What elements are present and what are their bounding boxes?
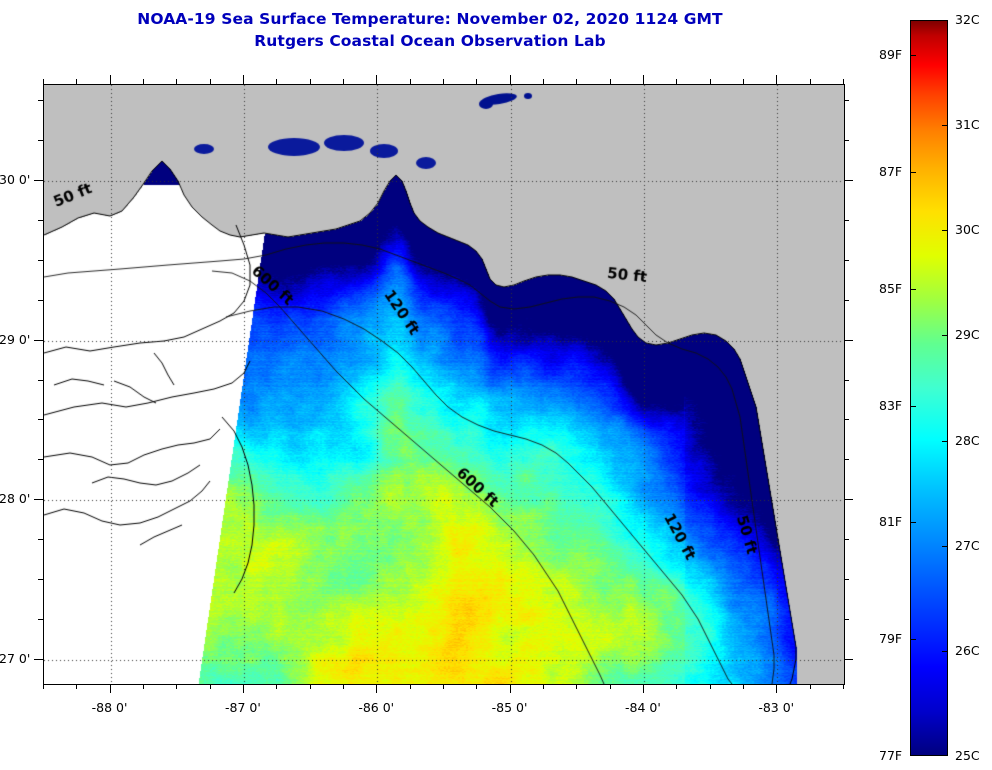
x-minor-tick: [276, 684, 277, 689]
y-minor-tick: [38, 539, 43, 540]
colorbar-tick: [942, 335, 948, 336]
y-major-tick: [34, 340, 43, 341]
x-minor-tick: [576, 684, 577, 689]
x-major-tick: [243, 684, 244, 693]
x-minor-tick-top: [710, 79, 711, 84]
x-major-tick: [376, 684, 377, 693]
colorbar-celsius-label: 25C: [955, 748, 980, 763]
sst-heatmap-canvas: [44, 85, 844, 684]
colorbar-fahrenheit-label: 81F: [879, 514, 902, 529]
y-minor-tick: [38, 380, 43, 381]
y-axis-tick-label: 29 0': [0, 332, 30, 347]
y-major-tick: [34, 659, 43, 660]
y-minor-tick: [38, 220, 43, 221]
x-minor-tick-top: [310, 79, 311, 84]
y-major-tick-right: [844, 659, 853, 660]
x-minor-tick: [143, 684, 144, 689]
x-axis-tick-label: -86 0': [358, 700, 394, 715]
x-minor-tick: [410, 684, 411, 689]
x-axis-tick-label: -88 0': [92, 700, 128, 715]
y-major-tick-right: [844, 499, 853, 500]
x-major-tick-top: [110, 75, 111, 84]
x-minor-tick-top: [810, 79, 811, 84]
colorbar-tick: [942, 651, 948, 652]
x-major-tick-top: [243, 75, 244, 84]
colorbar: [910, 20, 948, 756]
y-axis-tick-label: 27 0': [0, 651, 30, 666]
x-minor-tick-top: [210, 79, 211, 84]
y-minor-tick: [38, 100, 43, 101]
colorbar-fahrenheit-label: 79F: [879, 631, 902, 646]
y-minor-tick-right: [844, 579, 849, 580]
x-minor-tick: [810, 684, 811, 689]
y-major-tick: [34, 499, 43, 500]
colorbar-tick: [942, 125, 948, 126]
x-major-tick-top: [510, 75, 511, 84]
y-axis-tick-label: 30 0': [0, 172, 30, 187]
x-major-tick: [776, 684, 777, 693]
y-minor-tick: [38, 300, 43, 301]
x-minor-tick-top: [343, 79, 344, 84]
y-minor-tick-right: [844, 539, 849, 540]
y-minor-tick-right: [844, 619, 849, 620]
x-minor-tick-top: [610, 79, 611, 84]
x-minor-tick-top: [176, 79, 177, 84]
colorbar-celsius-label: 31C: [955, 117, 980, 132]
colorbar-celsius-label: 29C: [955, 327, 980, 342]
y-minor-tick: [38, 619, 43, 620]
x-minor-tick: [610, 684, 611, 689]
y-minor-tick: [38, 140, 43, 141]
y-major-tick-right: [844, 340, 853, 341]
x-axis-tick-label: -85 0': [492, 700, 528, 715]
x-major-tick: [643, 684, 644, 693]
x-minor-tick-top: [143, 79, 144, 84]
x-minor-tick-top: [76, 79, 77, 84]
colorbar-tick: [910, 172, 916, 173]
colorbar-tick: [942, 546, 948, 547]
x-minor-tick: [543, 684, 544, 689]
x-minor-tick-top: [743, 79, 744, 84]
x-minor-tick: [443, 684, 444, 689]
colorbar-fahrenheit-label: 85F: [879, 281, 902, 296]
x-minor-tick: [676, 684, 677, 689]
colorbar-celsius-label: 32C: [955, 12, 980, 27]
x-minor-tick-top: [543, 79, 544, 84]
x-major-tick: [510, 684, 511, 693]
y-minor-tick-right: [844, 419, 849, 420]
y-minor-tick: [38, 459, 43, 460]
title-line-1: NOAA-19 Sea Surface Temperature: Novembe…: [0, 8, 860, 30]
x-minor-tick: [310, 684, 311, 689]
y-minor-tick-right: [844, 260, 849, 261]
y-minor-tick-right: [844, 220, 849, 221]
colorbar-tick: [910, 522, 916, 523]
colorbar-fahrenheit-label: 83F: [879, 398, 902, 413]
colorbar-celsius-label: 30C: [955, 222, 980, 237]
page-title: NOAA-19 Sea Surface Temperature: Novembe…: [0, 8, 860, 52]
x-axis-tick-label: -84 0': [625, 700, 661, 715]
colorbar-tick: [942, 230, 948, 231]
y-minor-tick: [38, 260, 43, 261]
x-minor-tick: [176, 684, 177, 689]
x-minor-tick: [76, 684, 77, 689]
x-minor-tick: [43, 684, 44, 689]
title-line-2: Rutgers Coastal Ocean Observation Lab: [0, 30, 860, 52]
x-minor-tick: [743, 684, 744, 689]
y-minor-tick-right: [844, 459, 849, 460]
x-major-tick: [110, 684, 111, 693]
y-minor-tick-right: [844, 380, 849, 381]
colorbar-fahrenheit-label: 77F: [879, 748, 902, 763]
y-axis-tick-label: 28 0': [0, 491, 30, 506]
sst-map-plot: [43, 84, 845, 685]
colorbar-gradient: [910, 20, 948, 756]
x-minor-tick-top: [676, 79, 677, 84]
y-major-tick: [34, 180, 43, 181]
x-minor-tick: [476, 684, 477, 689]
x-axis-tick-label: -87 0': [225, 700, 261, 715]
colorbar-celsius-label: 28C: [955, 433, 980, 448]
x-major-tick-top: [376, 75, 377, 84]
x-minor-tick-top: [43, 79, 44, 84]
y-minor-tick-right: [844, 140, 849, 141]
x-minor-tick-top: [576, 79, 577, 84]
colorbar-tick: [910, 289, 916, 290]
x-major-tick-top: [776, 75, 777, 84]
colorbar-tick: [942, 441, 948, 442]
colorbar-fahrenheit-label: 89F: [879, 47, 902, 62]
y-minor-tick: [38, 419, 43, 420]
x-minor-tick: [843, 684, 844, 689]
colorbar-celsius-label: 26C: [955, 643, 980, 658]
y-major-tick-right: [844, 180, 853, 181]
x-major-tick-top: [643, 75, 644, 84]
x-minor-tick-top: [843, 79, 844, 84]
y-minor-tick-right: [844, 100, 849, 101]
y-minor-tick-right: [844, 300, 849, 301]
x-minor-tick: [710, 684, 711, 689]
colorbar-fahrenheit-label: 87F: [879, 164, 902, 179]
x-minor-tick: [210, 684, 211, 689]
x-minor-tick-top: [476, 79, 477, 84]
x-minor-tick-top: [443, 79, 444, 84]
colorbar-tick: [910, 406, 916, 407]
colorbar-celsius-label: 27C: [955, 538, 980, 553]
x-minor-tick-top: [276, 79, 277, 84]
colorbar-tick: [910, 639, 916, 640]
colorbar-tick: [910, 55, 916, 56]
x-minor-tick: [343, 684, 344, 689]
y-minor-tick: [38, 579, 43, 580]
x-axis-tick-label: -83 0': [758, 700, 794, 715]
x-minor-tick-top: [410, 79, 411, 84]
